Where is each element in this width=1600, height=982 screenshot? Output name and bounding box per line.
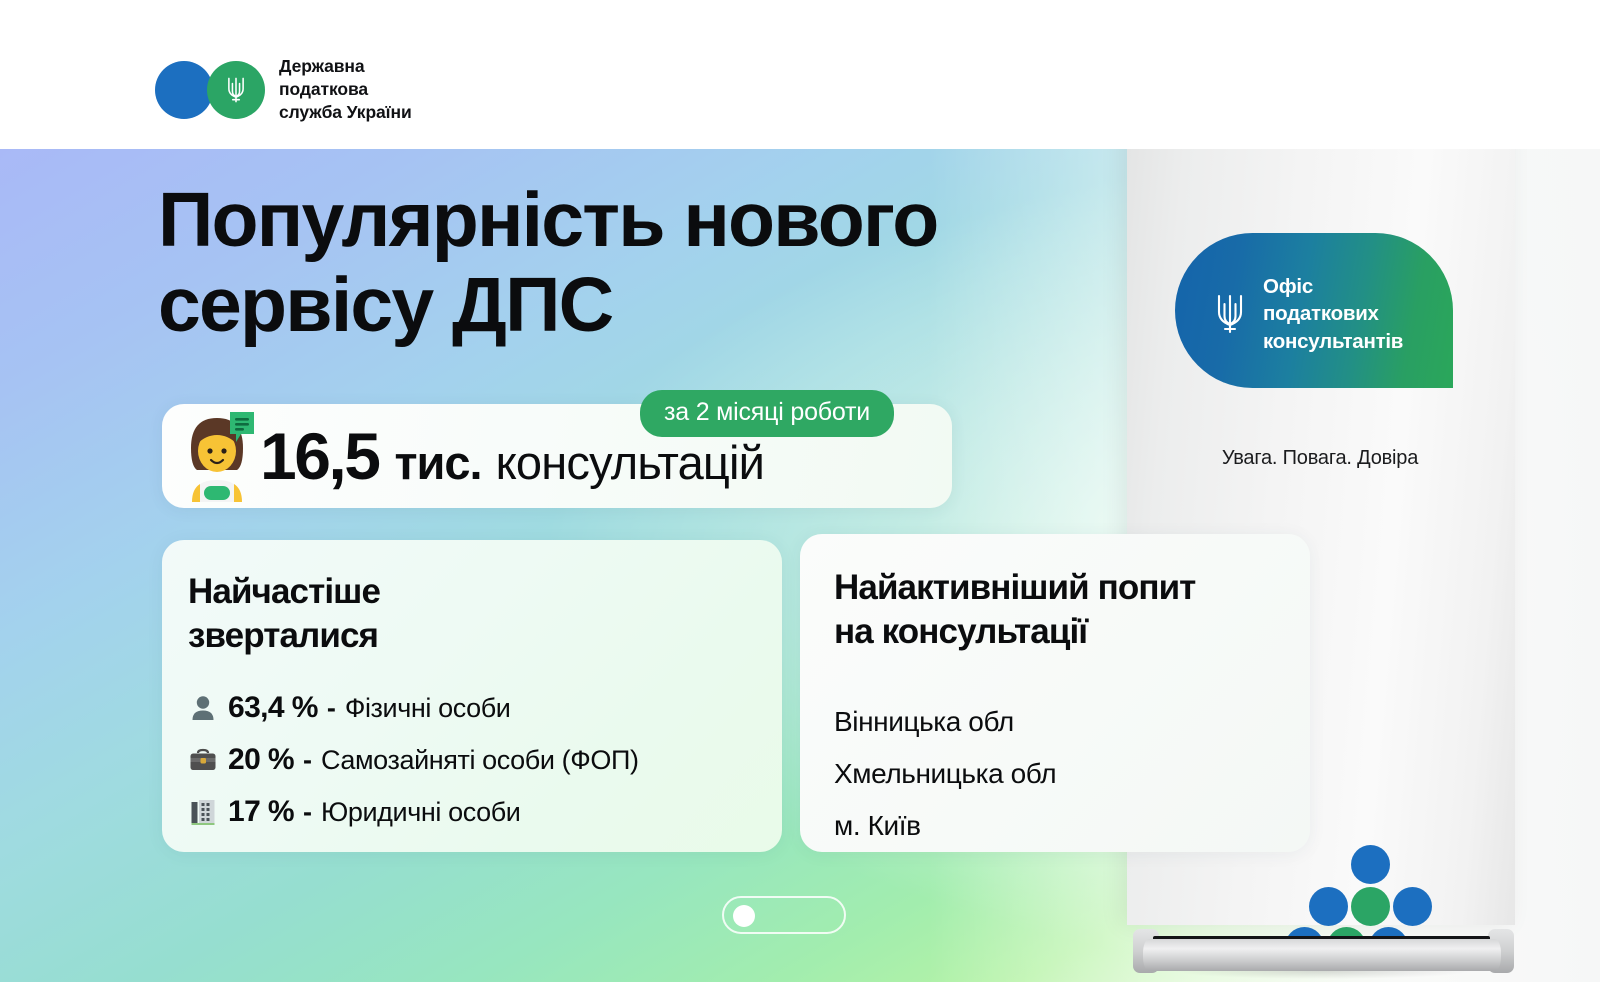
stat-label: Юридичні особи — [321, 797, 520, 828]
brand-circle-blue-icon — [155, 61, 213, 119]
stat-percent: 20 % — [228, 743, 294, 777]
trident-icon — [1213, 291, 1247, 337]
region-list: Вінницька обл Хмельницька обл м. Київ — [834, 696, 1310, 852]
infographic-stage: Офіс податкових консультантів Увага. Пов… — [0, 0, 1600, 982]
woman-with-speech-bubble-icon — [178, 410, 256, 502]
hero-word: консультацій — [496, 439, 765, 486]
brand-circle-green-trident-icon — [207, 61, 265, 119]
tax-consultants-office-logo: Офіс податкових консультантів — [1175, 233, 1453, 388]
page-title: Популярність нового сервісу ДПС — [158, 178, 1118, 347]
stat-percent: 17 % — [228, 795, 294, 829]
hero-number: 16,5 — [260, 423, 378, 489]
list-item: 63,4 % - Фізичні особи — [186, 682, 782, 734]
carousel-dot[interactable] — [733, 905, 755, 927]
stat-dash: - — [303, 745, 312, 776]
rollup-slogan: Увага. Повага. Довіра — [1100, 447, 1540, 470]
stat-percent: 63,4 % — [228, 691, 318, 725]
logo-text: Офіс податкових консультантів — [1263, 273, 1403, 355]
person-silhouette-icon — [186, 695, 220, 721]
base-shadow — [1123, 971, 1523, 982]
list-item: м. Київ — [834, 800, 1310, 852]
dot — [1351, 845, 1390, 884]
stat-dash: - — [303, 797, 312, 828]
hero-unit: тис. — [394, 439, 481, 486]
office-building-icon — [186, 799, 220, 825]
brand-name: Державна податкова служба України — [279, 55, 412, 124]
list-item: 20 % - Самозайняті особи (ФОП) — [186, 734, 782, 786]
brand-marks — [155, 61, 265, 119]
briefcase-icon — [186, 748, 220, 772]
list-item: Вінницька обл — [834, 696, 1310, 748]
period-badge: за 2 місяці роботи — [640, 390, 894, 437]
header-band: Державна податкова служба України — [0, 0, 1600, 149]
base-body — [1143, 939, 1501, 971]
stat-label: Фізичні особи — [345, 693, 511, 724]
list-item: Хмельницька обл — [834, 748, 1310, 800]
most-frequent-applicants-card: Найчастіше зверталися 63,4 % - Фізичні о… — [162, 540, 782, 852]
stat-dash: - — [327, 693, 336, 724]
list-item: 17 % - Юридичні особи — [186, 786, 782, 838]
dps-brand-logo: Державна податкова служба України — [155, 55, 412, 124]
most-active-demand-card: Найактивніший попит на консультації Вінн… — [800, 534, 1310, 852]
rollup-base — [1103, 919, 1543, 979]
applicant-stat-list: 63,4 % - Фізичні особи 20 % - Самозайнят… — [186, 682, 782, 838]
stat-label: Самозайняті особи (ФОП) — [321, 745, 639, 776]
right-card-title: Найактивніший попит на консультації — [834, 566, 1310, 654]
left-card-title: Найчастіше зверталися — [188, 570, 782, 658]
carousel-pill-indicator[interactable] — [722, 896, 846, 934]
